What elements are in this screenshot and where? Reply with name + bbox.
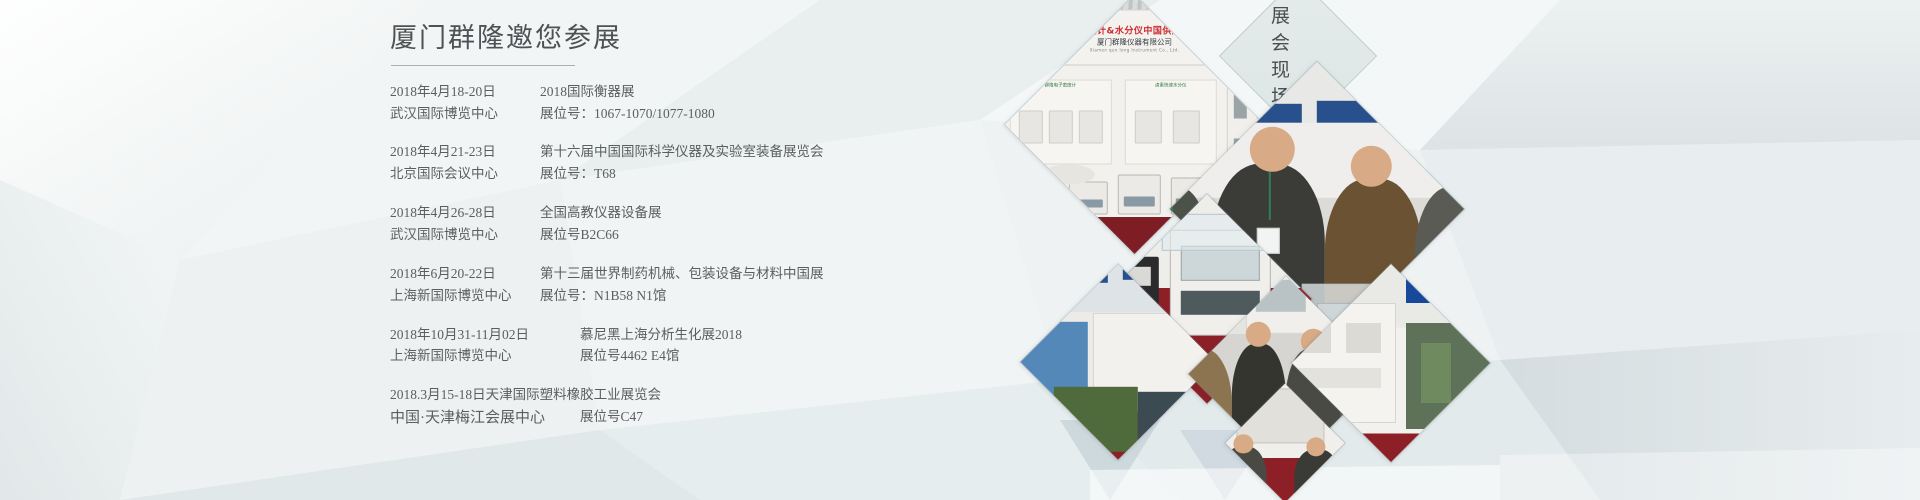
entry-venue: 北京国际会议中心 [390, 163, 540, 185]
exhibition-banner: 厦门群隆邀您参展 2018年4月18-20日 2018国际衡器展 武汉国际博览中… [0, 0, 1920, 500]
entry-venue: 武汉国际博览中心 [390, 224, 540, 246]
entry-venue: 武汉国际博览中心 [390, 103, 540, 125]
entry-venue: 上海新国际博览中心 [390, 345, 580, 367]
title-underline [391, 65, 575, 66]
page-title: 厦门群隆邀您参展 [390, 22, 950, 63]
entry-date-name-row: 2018年4月26-28日 全国高教仪器设备展 [390, 202, 950, 224]
entry-date-name-row: 2018年4月18-20日 2018国际衡器展 [390, 81, 950, 103]
list-item: 2018年4月18-20日 2018国际衡器展 武汉国际博览中心 展位号：106… [390, 81, 950, 125]
list-item: 2018年4月26-28日 全国高教仪器设备展 武汉国际博览中心 展位号B2C6… [390, 202, 950, 246]
list-item: 2018.3月15-18日天津国际塑料橡胶工业展览会 中国·天津梅江会展中心 展… [390, 384, 950, 430]
product-panel-left: 群隆电子密度计 [1009, 78, 1111, 164]
booth-company-cn: 厦门群隆仪器有限公司 [1097, 36, 1172, 47]
entry-date: 2018年4月26-28日 [390, 202, 540, 224]
booth-company-en: Xiamen qun long Instrument Co., Ltd. [1090, 47, 1180, 52]
entry-name: 全国高教仪器设备展 [540, 202, 662, 224]
panel-right-title: 卤素快速水分仪 [1126, 81, 1216, 87]
entry-venue: 中国·天津梅江会展中心 [390, 406, 580, 430]
entry-venue-booth-row: 武汉国际博览中心 展位号：1067-1070/1077-1080 [390, 103, 950, 125]
exhibition-list: 厦门群隆邀您参展 2018年4月18-20日 2018国际衡器展 武汉国际博览中… [390, 22, 950, 448]
entry-venue-booth-row: 上海新国际博览中心 展位号：N1B58 N1馆 [390, 285, 950, 307]
entry-name: 第十六届中国国际科学仪器及实验室装备展览会 [540, 141, 824, 163]
product-panel-right: 卤素快速水分仪 [1125, 78, 1217, 164]
list-item: 2018年6月20-22日 第十三届世界制药机械、包装设备与材料中国展 上海新国… [390, 263, 950, 307]
entry-date-name-row: 2018.3月15-18日天津国际塑料橡胶工业展览会 [390, 384, 950, 406]
entry-booth: 展位号：T68 [540, 163, 616, 185]
entry-date-name-row: 2018年6月20-22日 第十三届世界制药机械、包装设备与材料中国展 [390, 263, 950, 285]
entry-name: 2018国际衡器展 [540, 81, 635, 103]
entry-date-name-row: 2018年4月21-23日 第十六届中国国际科学仪器及实验室装备展览会 [390, 141, 950, 163]
entry-date: 2018年4月18-20日 [390, 81, 540, 103]
entry-booth: 展位号：N1B58 N1馆 [540, 285, 666, 307]
entry-venue-booth-row: 武汉国际博览中心 展位号B2C66 [390, 224, 950, 246]
entry-date: 2018年10月31-11月02日 [390, 324, 580, 346]
entry-venue-booth-row: 北京国际会议中心 展位号：T68 [390, 163, 950, 185]
entry-date-name-row: 2018年10月31-11月02日 慕尼黑上海分析生化展2018 [390, 324, 950, 346]
entry-booth: 展位号B2C66 [540, 224, 619, 246]
entry-venue: 上海新国际博览中心 [390, 285, 540, 307]
entry-booth: 展位号4462 E4馆 [580, 345, 679, 367]
entry-name: 慕尼黑上海分析生化展2018 [580, 324, 742, 346]
list-item: 2018年4月21-23日 第十六届中国国际科学仪器及实验室装备展览会 北京国际… [390, 141, 950, 185]
entry-venue-booth-row: 上海新国际博览中心 展位号4462 E4馆 [390, 345, 950, 367]
entry-date: 2018.3月15-18日天津国际塑料橡胶工业展览会 [390, 384, 661, 406]
photo-collage: 展会现场 密度计&水分仪中国供应商 厦门群隆仪器有限公司 Xiamen qun … [1020, 0, 1440, 500]
panel-left-title: 群隆电子密度计 [1010, 81, 1110, 87]
entry-date: 2018年6月20-22日 [390, 263, 540, 285]
background-facets [0, 0, 1920, 500]
entry-booth: 展位号：1067-1070/1077-1080 [540, 103, 715, 125]
entry-date: 2018年4月21-23日 [390, 141, 540, 163]
entry-name: 第十三届世界制药机械、包装设备与材料中国展 [540, 263, 824, 285]
entry-venue-booth-row: 中国·天津梅江会展中心 展位号C47 [390, 406, 950, 430]
booth-headline: 密度计&水分仪中国供应商 [1078, 23, 1191, 36]
entry-booth: 展位号C47 [580, 406, 643, 430]
list-item: 2018年10月31-11月02日 慕尼黑上海分析生化展2018 上海新国际博览… [390, 324, 950, 368]
